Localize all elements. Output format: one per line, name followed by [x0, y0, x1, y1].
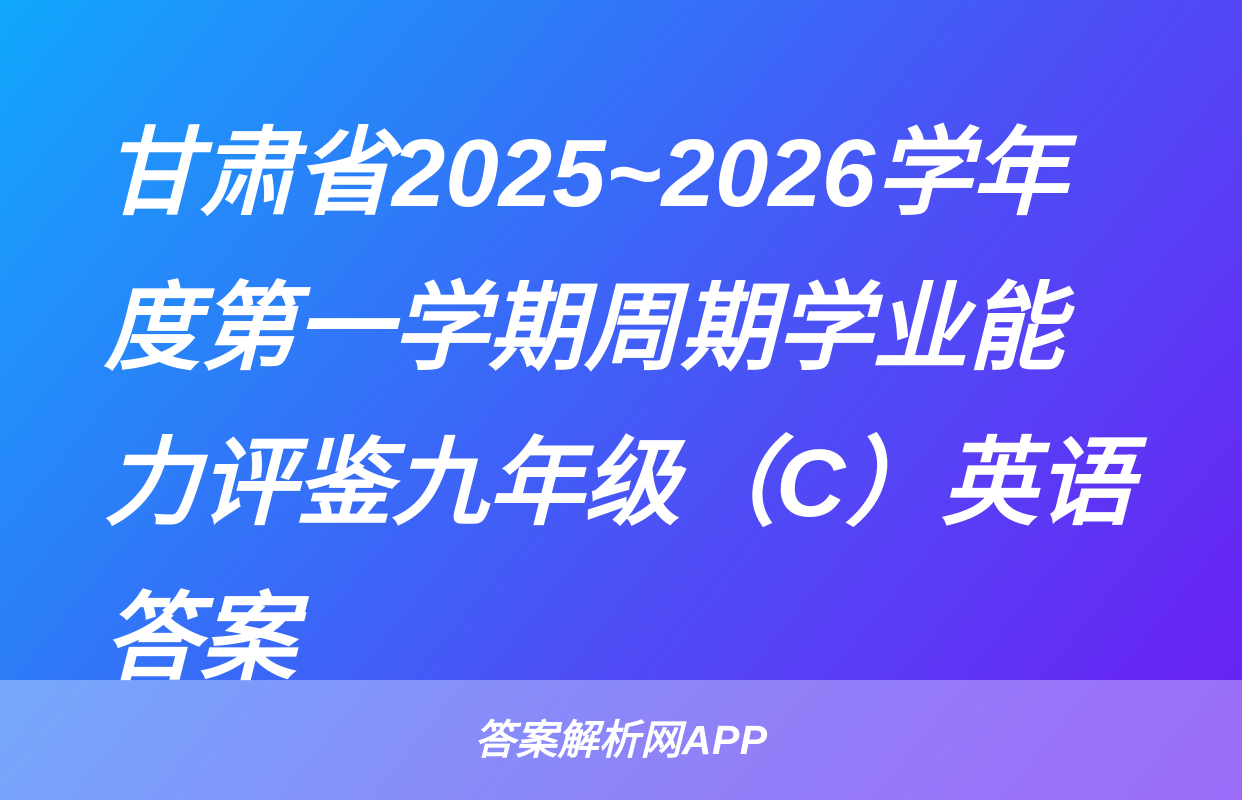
page-title: 甘肃省2025~2026学年度第一学期周期学业能力评鉴九年级（C）英语答案 [0, 96, 1242, 716]
watermark-bar: 答案解析网APP [0, 680, 1242, 800]
watermark-label: 答案解析网APP [474, 720, 767, 761]
poster-canvas: 甘肃省2025~2026学年度第一学期周期学业能力评鉴九年级（C）英语答案 答案… [0, 0, 1242, 800]
